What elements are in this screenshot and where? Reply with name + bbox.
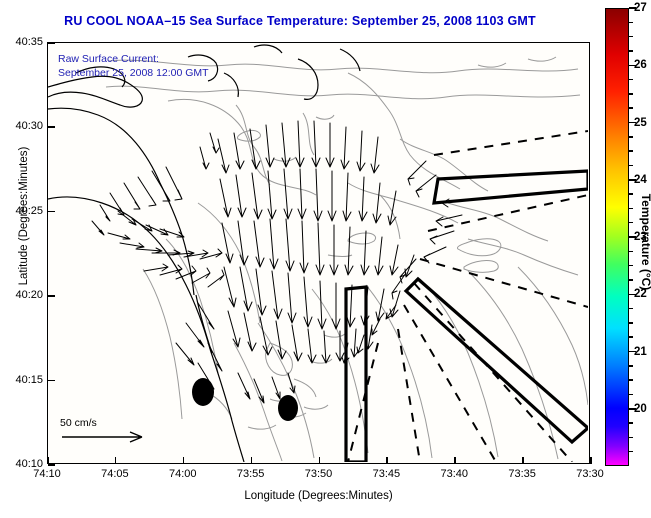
x-tick [115, 457, 117, 464]
colorbar-tick-label: 26 [634, 59, 647, 71]
colorbar-minor-tick [629, 422, 633, 424]
y-tick [48, 380, 55, 382]
x-tick-label: 73:35 [508, 468, 536, 480]
traffic-separation-rays [348, 131, 588, 462]
x-tick-label: 73:40 [440, 468, 468, 480]
colorbar-minor-tick [629, 265, 633, 267]
colorbar-minor-tick [629, 165, 633, 167]
colorbar-minor-tick [629, 451, 633, 453]
x-tick [319, 457, 321, 464]
colorbar-minor-tick [629, 308, 633, 310]
x-tick [183, 457, 185, 464]
map-graphics [48, 43, 588, 462]
colorbar-minor-tick [629, 93, 633, 95]
colorbar-minor-tick [629, 193, 633, 195]
y-tick [48, 211, 55, 213]
colorbar-tick-label: 21 [634, 346, 647, 358]
y-tick-label: 40:10 [1, 458, 43, 470]
station-markers [192, 378, 298, 421]
colorbar-minor-tick [629, 50, 633, 52]
colorbar-minor-tick [629, 379, 633, 381]
x-tick [454, 457, 456, 464]
x-tick-label: 73:30 [576, 468, 604, 480]
colorbar-minor-tick [629, 79, 633, 81]
x-tick [386, 457, 388, 464]
colorbar-minor-tick [629, 22, 633, 24]
shipping-lanes [346, 171, 588, 462]
x-tick [522, 457, 524, 464]
x-tick-label: 73:50 [305, 468, 333, 480]
x-tick [590, 457, 592, 464]
y-tick [48, 295, 55, 297]
colorbar-tick-label: 27 [634, 2, 647, 14]
x-tick-label: 73:45 [373, 468, 401, 480]
y-tick [48, 126, 55, 128]
colorbar-tick-label: 20 [634, 403, 647, 415]
scale-bar: 50 cm/s [60, 417, 170, 449]
colorbar-minor-tick [629, 107, 633, 109]
colorbar-tick-label: 25 [634, 117, 647, 129]
y-tick [48, 464, 55, 466]
colorbar-minor-tick [629, 136, 633, 138]
x-tick-label: 74:00 [169, 468, 197, 480]
colorbar-minor-tick [629, 222, 633, 224]
colorbar[interactable] [605, 8, 629, 466]
x-tick [47, 457, 49, 464]
y-axis-label: Latitude (Degrees:Minutes) [18, 106, 30, 326]
colorbar-minor-tick [629, 365, 633, 367]
scale-bar-label: 50 cm/s [60, 417, 170, 429]
colorbar-minor-tick [629, 251, 633, 253]
y-tick-label: 40:35 [1, 36, 43, 48]
x-axis-label: Longitude (Degrees:Minutes) [47, 490, 590, 502]
x-tick-label: 73:55 [237, 468, 265, 480]
colorbar-minor-tick [629, 208, 633, 210]
y-tick-label: 40:15 [1, 374, 43, 386]
colorbar-minor-tick [629, 36, 633, 38]
x-tick [251, 457, 253, 464]
y-tick [48, 42, 55, 44]
colorbar-minor-tick [629, 279, 633, 281]
colorbar-minor-tick [629, 150, 633, 152]
scale-bar-arrow-icon [60, 430, 152, 444]
colorbar-label: Temperature (°C) [639, 152, 651, 332]
colorbar-minor-tick [629, 394, 633, 396]
x-tick-label: 74:05 [101, 468, 129, 480]
colorbar-minor-tick [629, 322, 633, 324]
page-title: RU COOL NOAA–15 Sea Surface Temperature:… [0, 14, 600, 28]
map-plot-area[interactable]: Raw Surface Current: September 25, 2008 … [47, 42, 590, 464]
colorbar-minor-tick [629, 437, 633, 439]
current-vectors [92, 121, 468, 403]
colorbar-minor-tick [629, 336, 633, 338]
